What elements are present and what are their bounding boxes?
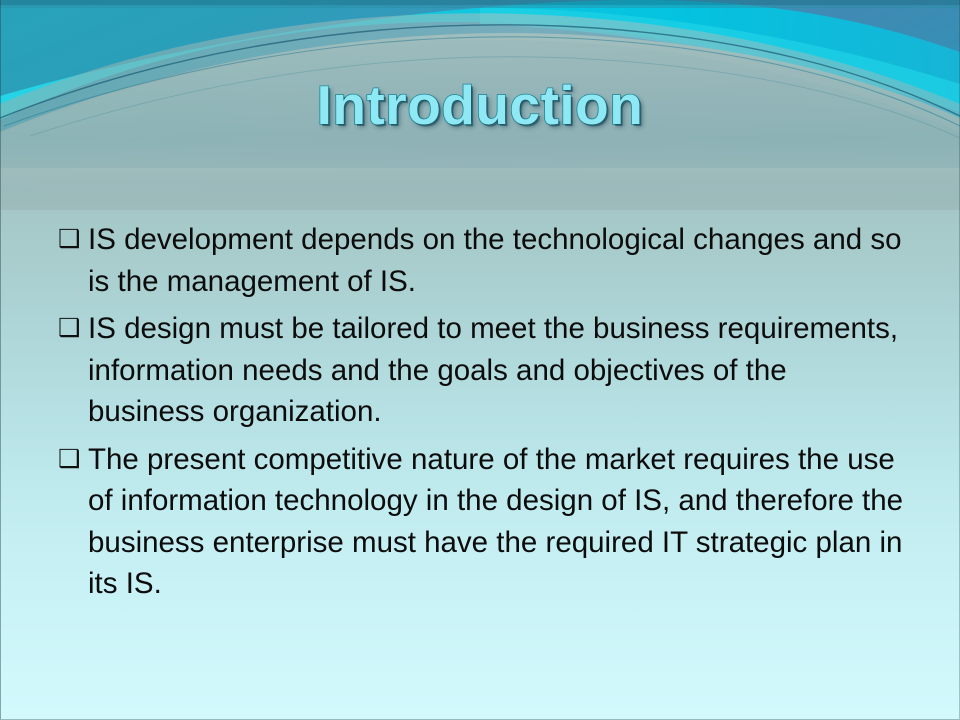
- presentation-slide: Introduction ❑ IS development depends on…: [0, 0, 960, 720]
- bullet-text: IS development depends on the technologi…: [88, 219, 906, 302]
- slide-title: Introduction: [0, 74, 960, 136]
- square-bullet-icon: ❑: [58, 219, 80, 261]
- bullet-item: ❑ IS development depends on the technolo…: [56, 219, 906, 302]
- bullet-text: IS design must be tailored to meet the b…: [88, 308, 906, 433]
- square-bullet-icon: ❑: [58, 308, 80, 350]
- bullet-item: ❑ IS design must be tailored to meet the…: [56, 308, 906, 433]
- slide-body: ❑ IS development depends on the technolo…: [56, 219, 906, 605]
- bullet-text: The present competitive nature of the ma…: [88, 439, 906, 605]
- bullet-item: ❑ The present competitive nature of the …: [56, 439, 906, 605]
- square-bullet-icon: ❑: [58, 439, 80, 481]
